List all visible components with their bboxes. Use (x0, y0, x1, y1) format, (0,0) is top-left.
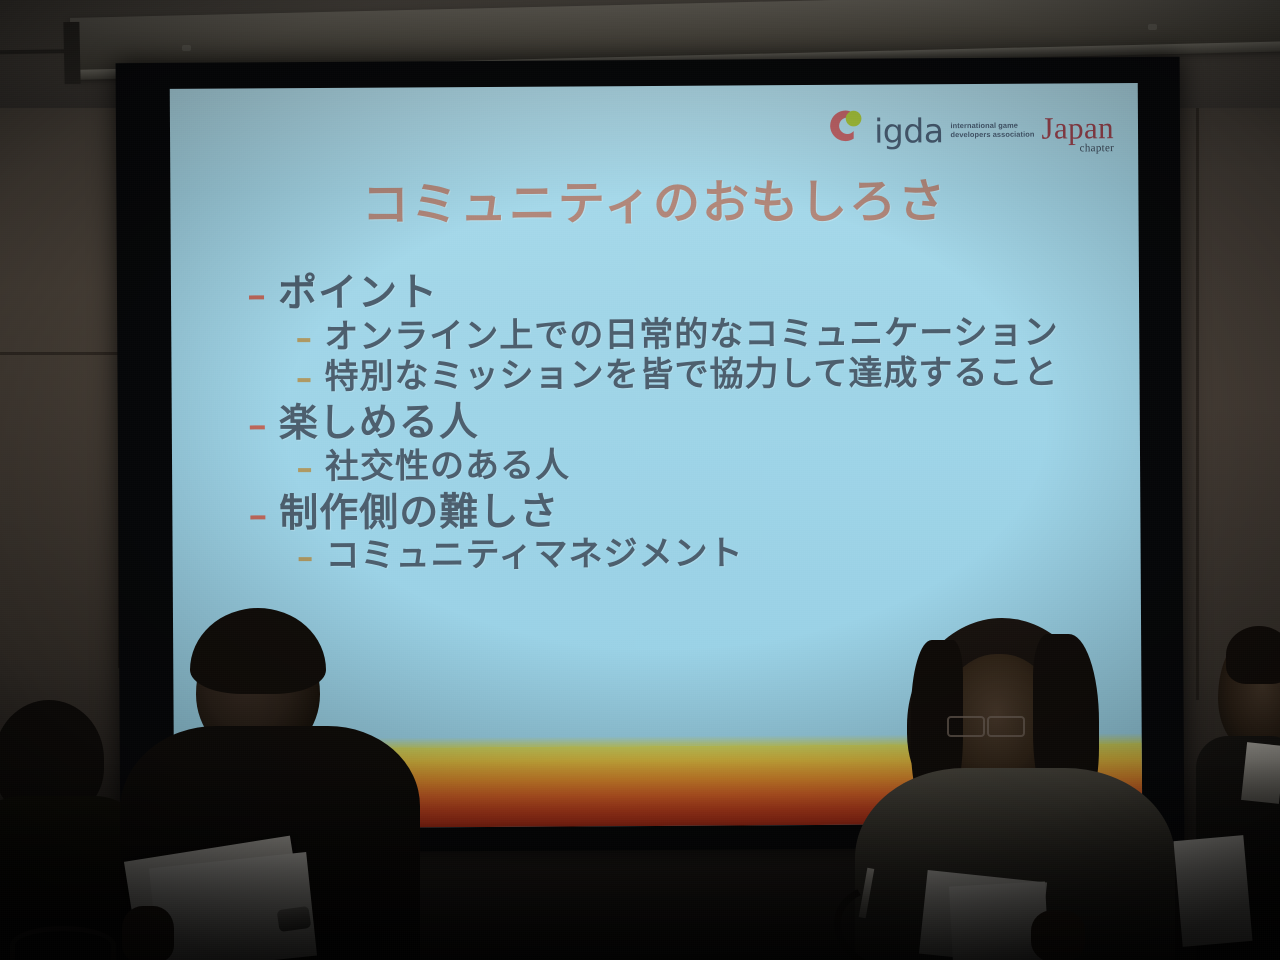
housing-screw (1148, 24, 1157, 30)
bullet-text: ポイント (278, 271, 438, 316)
bullet-item: ポイント (249, 267, 1119, 316)
bullet-text: オンライン上での日常的なコミュニケーション (324, 313, 1059, 356)
hair (190, 608, 326, 694)
bullet-dash-icon (297, 338, 310, 342)
hand (1031, 910, 1085, 960)
bullet-dash-icon (298, 468, 311, 472)
bullet-item: オンライン上での日常的なコミュニケーション (297, 313, 1119, 356)
bullet-text: 楽しめる人 (279, 401, 479, 446)
igda-chapter: Japan chapter (1041, 113, 1114, 145)
paper-sheet (149, 852, 317, 960)
housing-screw (182, 45, 191, 51)
wall-seam-horizontal (0, 352, 130, 355)
bullet-dash-icon (250, 425, 265, 429)
bullet-item: 特別なミッションを皆で協力して達成すること (297, 353, 1119, 396)
igda-chapter-sub: chapter (1080, 142, 1115, 154)
wristwatch (277, 906, 312, 932)
glasses-lens-right-icon (987, 716, 1025, 737)
bullet-item: 制作側の難しさ (250, 487, 1120, 536)
bullet-item: 社交性のある人 (298, 443, 1120, 486)
hand (122, 906, 174, 960)
chair-back (10, 926, 116, 960)
panelist-center-right (855, 618, 1185, 960)
paper-sheet (1174, 835, 1253, 947)
bullet-dash-icon (299, 557, 312, 561)
shirt-collar (1241, 742, 1280, 804)
hair (1226, 626, 1280, 684)
bullet-item: 楽しめる人 (250, 397, 1120, 446)
presentation-photo-scene: igda international game developers assoc… (0, 0, 1280, 960)
igda-wordmark: igda (874, 115, 943, 147)
igda-tagline: international game developers associatio… (950, 121, 1034, 147)
housing-bracket (63, 22, 80, 84)
igda-logo: igda international game developers assoc… (825, 103, 1114, 147)
panelist-far-right (1200, 632, 1280, 960)
bullet-dash-icon (298, 378, 311, 382)
bullet-dash-icon (249, 295, 264, 299)
igda-chapter-name: Japan (1041, 110, 1114, 145)
glasses-lens-left-icon (947, 716, 985, 737)
slide-bullet-list: ポイント オンライン上での日常的なコミュニケーション 特別なミッションを皆で協力… (249, 261, 1121, 576)
panelist-left (110, 608, 430, 960)
slide-title: コミュニティのおもしろさ (170, 161, 1138, 236)
igda-mark-icon (825, 105, 867, 147)
bullet-item: コミュニティマネジメント (298, 532, 1120, 575)
bullet-text: 特別なミッションを皆で協力して達成すること (324, 353, 1058, 396)
bullet-text: コミュニティマネジメント (325, 535, 743, 576)
wall-panel-left (0, 40, 120, 660)
bullet-dash-icon (250, 515, 265, 519)
bullet-text: 制作側の難しさ (279, 490, 559, 535)
bullet-text: 社交性のある人 (325, 446, 570, 486)
